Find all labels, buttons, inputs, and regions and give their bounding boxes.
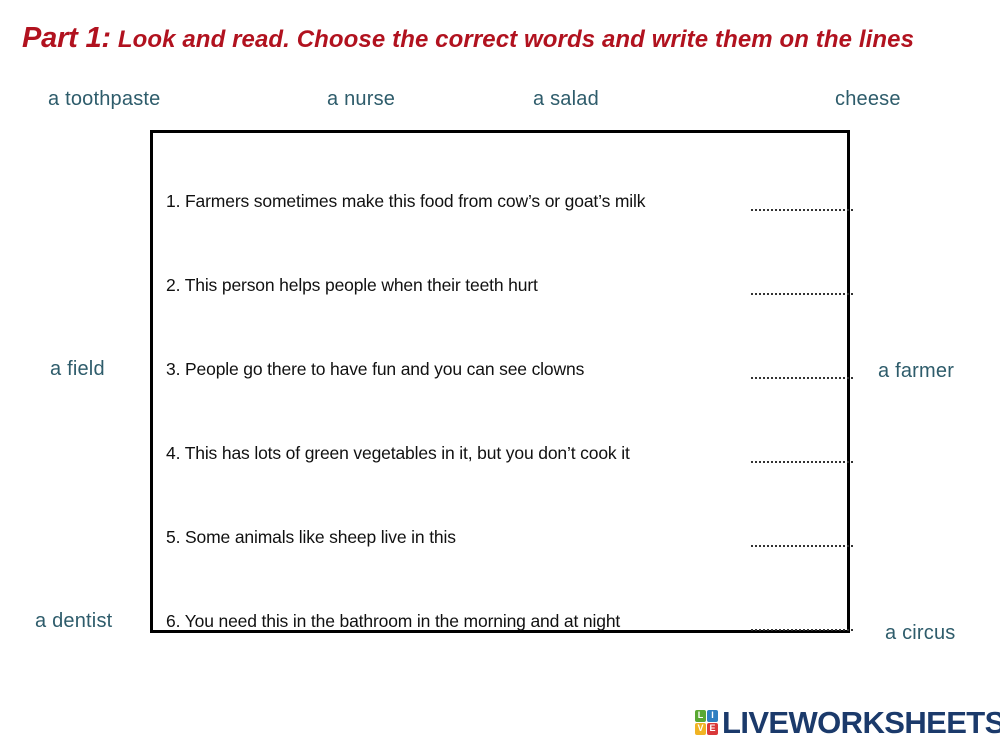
answer-line-1[interactable] [751,208,853,211]
question-text: 3. People go there to have fun and you c… [166,359,584,380]
questions-container: 1. Farmers sometimes make this food from… [150,130,850,633]
page-title: Part 1:Look and read. Choose the correct… [22,22,972,55]
question-row: 6. You need this in the bathroom in the … [166,609,837,633]
page-title-part-label: Part 1: [22,22,111,54]
logo-cell-e: E [707,723,718,735]
question-text: 1. Farmers sometimes make this food from… [166,191,645,212]
word-bank-item-a-farmer[interactable]: a farmer [878,360,954,383]
question-row: 2. This person helps people when their t… [166,273,837,297]
answer-line-2[interactable] [751,292,853,295]
question-row: 1. Farmers sometimes make this food from… [166,189,837,213]
worksheet-page: Part 1:Look and read. Choose the correct… [0,0,1000,750]
question-text: 5. Some animals like sheep live in this [166,527,456,548]
liveworksheets-wordmark: LIVEWORKSHEETS [722,707,1000,738]
logo-cell-v: V [695,723,706,735]
question-row: 5. Some animals like sheep live in this [166,525,837,549]
word-bank-item-a-toothpaste[interactable]: a toothpaste [48,88,161,111]
logo-cell-i: I [707,710,718,722]
liveworksheets-logo[interactable]: L I V E LIVEWORKSHEETS [695,705,1000,739]
liveworksheets-mark-icon: L I V E [695,710,718,735]
answer-line-3[interactable] [751,376,853,379]
word-bank-item-cheese[interactable]: cheese [835,88,901,111]
answer-line-4[interactable] [751,460,853,463]
page-title-instructions: Look and read. Choose the correct words … [118,26,914,53]
word-bank-item-a-salad[interactable]: a salad [533,88,599,111]
answer-line-5[interactable] [751,544,853,547]
question-row: 3. People go there to have fun and you c… [166,357,837,381]
question-text: 4. This has lots of green vegetables in … [166,443,630,464]
logo-cell-l: L [695,710,706,722]
word-bank-item-a-field[interactable]: a field [50,358,105,381]
question-text: 2. This person helps people when their t… [166,275,538,296]
question-text: 6. You need this in the bathroom in the … [166,611,620,632]
word-bank-item-a-circus[interactable]: a circus [885,622,956,645]
word-bank-item-a-dentist[interactable]: a dentist [35,610,112,633]
question-row: 4. This has lots of green vegetables in … [166,441,837,465]
word-bank-item-a-nurse[interactable]: a nurse [327,88,395,111]
answer-line-6[interactable] [751,628,853,631]
